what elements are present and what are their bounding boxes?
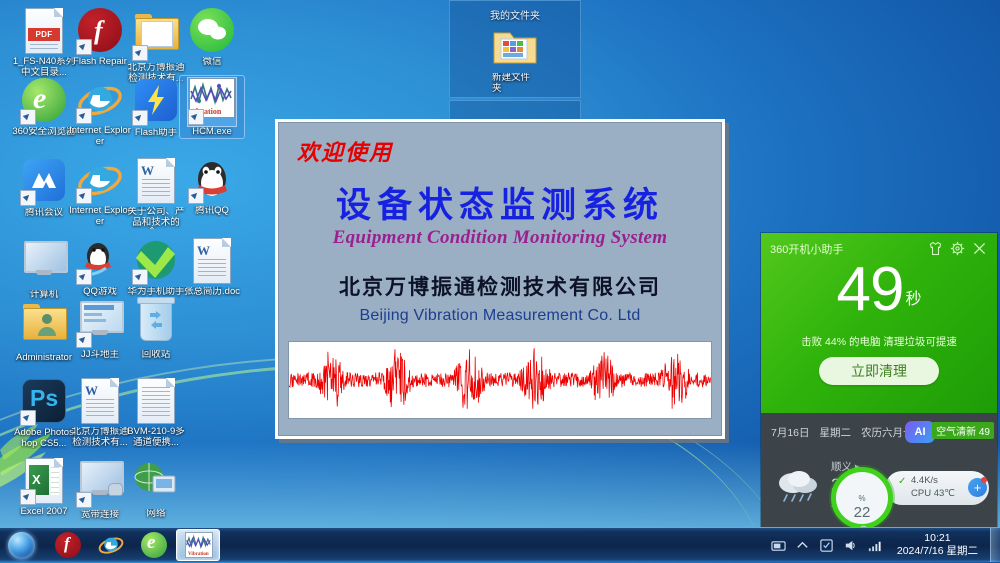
desktop-icon-label: 微信 bbox=[180, 57, 244, 68]
waveform-svg bbox=[289, 342, 711, 418]
360-browser-icon: e bbox=[141, 532, 167, 558]
wechat-icon bbox=[188, 8, 236, 56]
desktop-icon-label: 网络 bbox=[124, 509, 188, 520]
excel-icon: X bbox=[20, 458, 68, 506]
air-quality-badge: 空气清新 49 bbox=[932, 422, 994, 439]
desktop-icon-label: Excel 2007 bbox=[12, 507, 76, 518]
boot-subtitle: 击败 44% 的电脑 清理垃圾可提速 bbox=[761, 334, 997, 349]
folder-icon bbox=[492, 27, 538, 67]
voov-icon bbox=[20, 159, 68, 207]
close-icon[interactable] bbox=[971, 240, 988, 257]
doc-icon bbox=[132, 378, 180, 426]
desktop-icon-2[interactable]: fFlash Repair bbox=[68, 6, 132, 68]
photoshop-icon: Ps bbox=[20, 379, 68, 427]
boot-unit: 秒 bbox=[905, 291, 921, 308]
shortcut-arrow-icon bbox=[188, 109, 204, 125]
desktop-icon-14[interactable]: QQ游戏 bbox=[68, 236, 132, 298]
system-tray: 10:21 2024/7/16 星期二 bbox=[771, 532, 990, 558]
desktop-icon-label: Internet Explorer bbox=[68, 126, 132, 147]
network-signal-icon[interactable] bbox=[867, 538, 882, 553]
desktop-icon-20[interactable]: PsAdobe Photoshop CS5... bbox=[12, 376, 76, 449]
gear-icon[interactable] bbox=[949, 240, 966, 257]
desktop-icon-13[interactable]: 计算机 bbox=[12, 236, 76, 301]
folder-user-icon bbox=[20, 304, 68, 352]
folder-item[interactable]: 新建文件夹 bbox=[492, 27, 538, 94]
shortcut-arrow-icon bbox=[76, 269, 92, 285]
vibration-waveform bbox=[288, 341, 712, 419]
desktop-icon-8[interactable]: brationHCM.exe bbox=[180, 76, 244, 138]
desktop-icon-4[interactable]: 微信 bbox=[180, 6, 244, 68]
desktop-icon-17[interactable]: Administrator bbox=[12, 296, 76, 364]
rain-cloud-icon bbox=[773, 467, 825, 505]
360-boot-assistant-widget[interactable]: 360开机小助手 49秒 击败 44% 的电脑 清理 bbox=[761, 233, 997, 527]
welcome-text: 欢迎使用 bbox=[297, 135, 393, 167]
network-icon bbox=[132, 460, 180, 508]
desktop-icon-label: 宽带连接 bbox=[68, 510, 132, 521]
ai-badge[interactable]: AI bbox=[905, 421, 935, 443]
pdf-icon: PDF bbox=[20, 8, 68, 56]
folder-item-label: 新建文件夹 bbox=[492, 73, 538, 94]
desktop-icon-label: 关于公司、产品和技术的介... bbox=[124, 207, 188, 229]
memory-percent-unit: % bbox=[858, 494, 865, 503]
taskbar[interactable]: feVibration 10:21 2024/7/16 星期二 bbox=[0, 527, 1000, 562]
qq-icon bbox=[188, 157, 236, 205]
desktop-icon-label: Adobe Photoshop CS5... bbox=[12, 428, 76, 449]
jj-icon bbox=[76, 301, 124, 349]
desktop-icon-label: 腾讯会议 bbox=[12, 208, 76, 219]
taskbar-clock[interactable]: 10:21 2024/7/16 星期二 bbox=[891, 532, 984, 558]
desktop-icon-16[interactable]: W张总简历.doc bbox=[180, 236, 244, 298]
flash-helper-icon bbox=[132, 79, 180, 127]
shortcut-arrow-icon bbox=[20, 489, 36, 505]
desktop-icon-label: Flash助手 bbox=[124, 128, 188, 139]
expand-plus-icon[interactable]: + bbox=[968, 478, 987, 497]
desktop-icon-label: Administrator bbox=[12, 353, 76, 364]
desktop-icon-25[interactable]: 网络 bbox=[124, 456, 188, 520]
shortcut-arrow-icon bbox=[188, 188, 204, 204]
desktop-icon-23[interactable]: XExcel 2007 bbox=[12, 456, 76, 518]
word-doc-icon: W bbox=[76, 378, 124, 426]
desktop-icon-9[interactable]: 腾讯会议 bbox=[12, 156, 76, 219]
qqgame-icon bbox=[76, 238, 124, 286]
app-title-chinese: 设备状态监测系统 bbox=[279, 177, 721, 228]
background-window-title: 我的文件夹 bbox=[450, 7, 580, 22]
boot-time-display: 49秒 bbox=[761, 259, 997, 321]
desktop-icon-label: 1_FS-N40系列中文目录... bbox=[12, 57, 76, 78]
shortcut-arrow-icon bbox=[132, 110, 148, 126]
shortcut-arrow-icon bbox=[132, 269, 148, 285]
desktop-icon-label: HCM.exe bbox=[180, 127, 244, 138]
network-speed: 4.4K/s bbox=[911, 475, 938, 486]
taskbar-item-hcm-app[interactable]: Vibration bbox=[176, 529, 220, 561]
desktop-icon-12[interactable]: 腾讯QQ bbox=[180, 156, 244, 217]
desktop-icon-1[interactable]: PDF1_FS-N40系列中文目录... bbox=[12, 6, 76, 78]
desktop-icon-label: 回收站 bbox=[124, 350, 188, 361]
show-desktop-button[interactable] bbox=[990, 528, 1000, 562]
desktop-icon-6[interactable]: Internet Explorer bbox=[68, 76, 132, 147]
shortcut-arrow-icon bbox=[20, 410, 36, 426]
flash-icon: f bbox=[76, 8, 124, 56]
ie-icon bbox=[76, 157, 124, 205]
internet-explorer-icon bbox=[98, 532, 124, 558]
desktop-icon-3[interactable]: 北京万博振通检测技术有... bbox=[124, 6, 188, 84]
desktop-icon-11[interactable]: W关于公司、产品和技术的介... bbox=[124, 156, 188, 229]
browser360-icon: e bbox=[20, 78, 68, 126]
huawei-icon bbox=[132, 238, 180, 286]
desktop-icon-label: 360安全浏览器 bbox=[12, 127, 76, 138]
taskbar-item-360-browser[interactable]: e bbox=[133, 530, 175, 560]
desktop-icon-label: Flash Repair bbox=[68, 57, 132, 68]
recycle-bin-icon bbox=[132, 301, 180, 349]
shortcut-arrow-icon bbox=[76, 492, 92, 508]
desktop-icon-7[interactable]: Flash助手 bbox=[124, 76, 188, 139]
desktop-icon-22[interactable]: BVM-210-9多通道便携... bbox=[124, 376, 188, 448]
folder-open-icon bbox=[132, 14, 180, 62]
desktop-icon-15[interactable]: 华为手机助手 bbox=[124, 236, 188, 298]
shortcut-arrow-icon bbox=[76, 39, 92, 55]
memory-usage-ring[interactable]: 22% bbox=[831, 467, 893, 529]
word-doc-icon: W bbox=[132, 158, 180, 206]
desktop-icon-10[interactable]: Internet Explorer bbox=[68, 156, 132, 227]
company-name-chinese: 北京万博振通检测技术有限公司 bbox=[279, 271, 721, 301]
system-status-pill[interactable]: ✓ 4.4K/s CPU 43℃ + bbox=[885, 471, 989, 505]
desktop-icon-label: Internet Explorer bbox=[68, 206, 132, 227]
hcm-app-icon: Vibration bbox=[185, 532, 211, 558]
cpu-temperature: CPU 43℃ bbox=[911, 488, 955, 499]
shortcut-arrow-icon bbox=[132, 45, 148, 61]
background-window-top[interactable]: 我的文件夹 新建文件夹 bbox=[449, 0, 581, 98]
volume-icon[interactable] bbox=[843, 538, 858, 553]
boot-seconds: 49 bbox=[837, 255, 904, 324]
shortcut-arrow-icon bbox=[76, 108, 92, 124]
clean-now-button[interactable]: 立即清理 bbox=[819, 357, 939, 385]
taskbar-items: feVibration bbox=[46, 529, 220, 561]
ie-icon bbox=[76, 77, 124, 125]
splash-window[interactable]: 欢迎使用 设备状态监测系统 Equipment Condition Monito… bbox=[275, 119, 725, 439]
desktop-icon-label: 北京万博振通检测技术有... bbox=[68, 427, 132, 448]
app-title-english: Equipment Condition Monitoring System bbox=[279, 227, 721, 249]
taskbar-item-flash-repair[interactable]: f bbox=[47, 530, 89, 560]
taskbar-item-internet-explorer[interactable] bbox=[90, 530, 132, 560]
desktop-icon-label: 张总简历.doc bbox=[180, 287, 244, 298]
shortcut-arrow-icon bbox=[76, 188, 92, 204]
desktop-icon-24[interactable]: 宽带连接 bbox=[68, 456, 132, 521]
check-icon: ✓ bbox=[898, 476, 906, 487]
desktop-icon-21[interactable]: W北京万博振通检测技术有... bbox=[68, 376, 132, 448]
desktop-icon-label: JJ斗地主 bbox=[68, 350, 132, 361]
tablet-icon[interactable] bbox=[771, 538, 786, 553]
computer-icon bbox=[20, 241, 68, 289]
memory-percent-value: 22 bbox=[836, 504, 888, 521]
clock-date: 2024/7/16 星期二 bbox=[897, 545, 978, 558]
desktop-icon-19[interactable]: 回收站 bbox=[124, 296, 188, 361]
weekday-text: 星期二 bbox=[820, 425, 852, 440]
date-text: 7月16日 bbox=[771, 425, 810, 440]
broadband-icon bbox=[76, 461, 124, 509]
hcm-icon: bration bbox=[188, 78, 236, 126]
shortcut-arrow-icon bbox=[76, 332, 92, 348]
desktop-icon-label: 腾讯QQ bbox=[180, 206, 244, 217]
clock-time: 10:21 bbox=[897, 532, 978, 545]
flash-repair-icon: f bbox=[55, 532, 81, 558]
desktop-icon-18[interactable]: JJ斗地主 bbox=[68, 296, 132, 361]
word-doc-icon: W bbox=[188, 238, 236, 286]
shirt-icon[interactable] bbox=[927, 240, 944, 257]
start-button[interactable] bbox=[2, 530, 46, 560]
shortcut-arrow-icon bbox=[20, 190, 36, 206]
desktop-icon-5[interactable]: e360安全浏览器 bbox=[12, 76, 76, 138]
desktop-icon-label: BVM-210-9多通道便携... bbox=[124, 427, 188, 448]
shortcut-arrow-icon bbox=[20, 109, 36, 125]
show-hidden-icons-icon[interactable] bbox=[795, 538, 810, 553]
action-center-icon[interactable] bbox=[819, 538, 834, 553]
company-name-english: Beijing Vibration Measurement Co. Ltd bbox=[279, 307, 721, 325]
